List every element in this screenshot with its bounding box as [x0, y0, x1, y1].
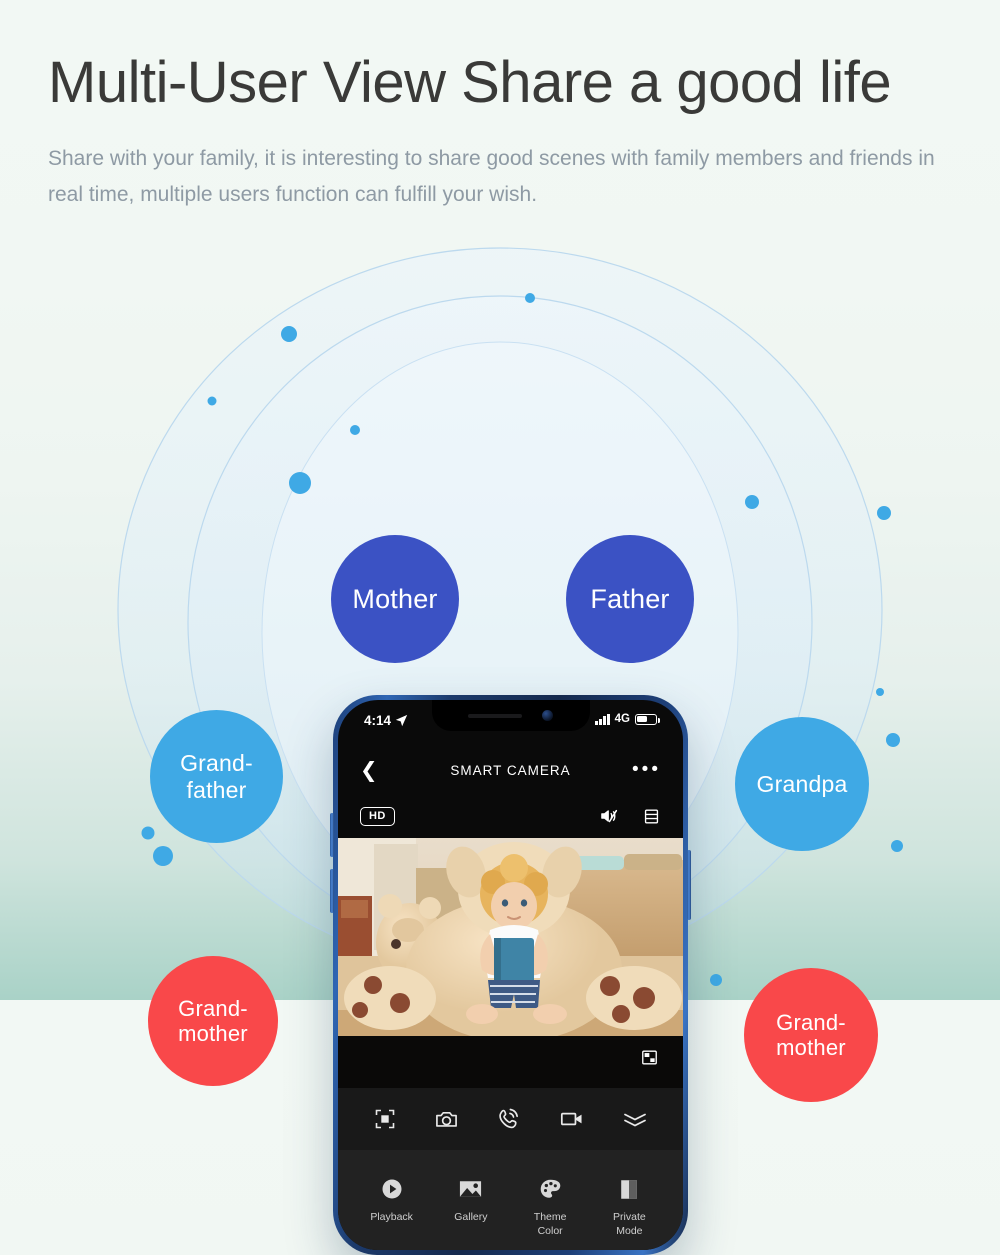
chevron-left-icon[interactable]: ❮	[360, 760, 378, 781]
picture-in-picture-icon[interactable]	[640, 1048, 659, 1067]
double-chevron-down-icon[interactable]	[622, 1108, 648, 1130]
status-right: 4G	[595, 713, 657, 725]
earpiece-speaker-icon	[468, 714, 522, 718]
status-left: 4:14	[364, 713, 408, 728]
user-bubble-grandmother-left[interactable]: Grand-mother	[148, 956, 278, 1086]
speaker-muted-icon[interactable]	[598, 806, 620, 826]
user-bubble-label: Father	[590, 584, 669, 615]
phone-mockup: 4:14 4G ❮ SMART CAMERA ••• HD	[333, 695, 688, 1255]
user-bubble-label: Grand-mother	[776, 1010, 846, 1060]
user-bubble-grandmother-right[interactable]: Grand-mother	[744, 968, 878, 1102]
play-circle-icon	[356, 1176, 428, 1202]
status-time: 4:14	[364, 713, 391, 728]
image-icon	[435, 1176, 507, 1202]
split-layout-icon[interactable]	[642, 807, 661, 826]
volume-up-button[interactable]	[330, 813, 334, 857]
hd-quality-badge[interactable]: HD	[360, 807, 395, 826]
video-scene-illustration	[338, 838, 683, 1036]
phone-screen: 4:14 4G ❮ SMART CAMERA ••• HD	[338, 700, 683, 1250]
orbit-stage: MotherFatherGrand-fatherGrandpaGrand-mot…	[0, 240, 1000, 1000]
camera-icon[interactable]	[434, 1107, 459, 1132]
user-bubble-label: Mother	[352, 584, 437, 615]
user-bubble-label: Grand-mother	[178, 996, 248, 1046]
phone-call-icon[interactable]	[496, 1107, 521, 1132]
page-title: Multi-User View Share a good life	[48, 52, 968, 115]
palette-icon	[514, 1176, 586, 1202]
feature-playback[interactable]: Playback	[356, 1176, 428, 1225]
user-bubble-label: Grandpa	[757, 771, 848, 797]
user-bubble-grandpa[interactable]: Grandpa	[735, 717, 869, 851]
network-label: 4G	[615, 713, 630, 725]
user-bubble-label: Grand-father	[180, 750, 253, 802]
page-subtitle: Share with your family, it is interestin…	[48, 141, 953, 213]
volume-down-button[interactable]	[330, 869, 334, 913]
feature-label: ThemeColor	[514, 1211, 586, 1238]
feature-private-mode[interactable]: PrivateMode	[593, 1176, 665, 1238]
app-header: ❮ SMART CAMERA •••	[338, 746, 683, 794]
feature-row: PlaybackGalleryThemeColorPrivateMode	[338, 1150, 683, 1250]
tool-row	[338, 1088, 683, 1150]
feature-label: PrivateMode	[593, 1211, 665, 1238]
user-bubble-father[interactable]: Father	[566, 535, 694, 663]
shield-book-icon	[593, 1176, 665, 1202]
video-camera-icon[interactable]	[559, 1106, 585, 1132]
user-bubble-grandfather[interactable]: Grand-father	[150, 710, 283, 843]
fullscreen-focus-icon[interactable]	[373, 1107, 397, 1131]
pip-row	[338, 1036, 683, 1088]
front-camera-icon	[542, 710, 553, 721]
status-bar: 4:14 4G	[338, 700, 683, 746]
more-dots-icon[interactable]: •••	[632, 764, 661, 775]
location-arrow-icon	[395, 714, 408, 727]
feature-theme-color[interactable]: ThemeColor	[514, 1176, 586, 1238]
battery-icon	[635, 714, 657, 725]
user-bubble-mother[interactable]: Mother	[331, 535, 459, 663]
notch	[432, 700, 590, 731]
signal-bars-icon	[595, 714, 610, 725]
video-control-bar: HD	[338, 794, 683, 838]
feature-gallery[interactable]: Gallery	[435, 1176, 507, 1225]
page-header: Multi-User View Share a good life Share …	[48, 52, 968, 213]
video-feed[interactable]	[338, 838, 683, 1036]
feature-label: Gallery	[435, 1211, 507, 1225]
power-button[interactable]	[687, 850, 691, 920]
feature-label: Playback	[356, 1211, 428, 1225]
